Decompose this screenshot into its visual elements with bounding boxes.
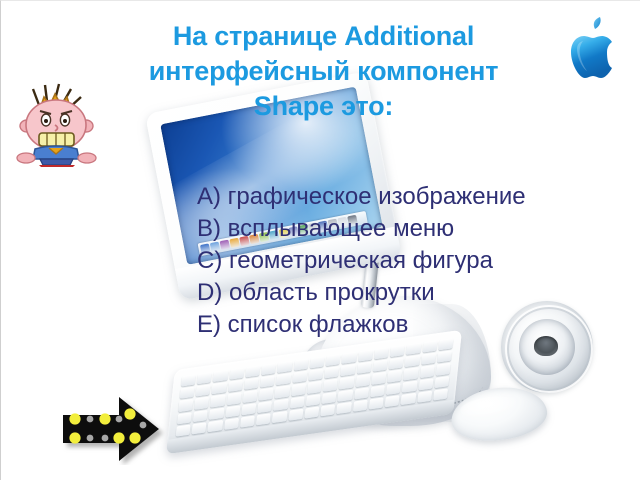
keyboard-key — [210, 395, 225, 407]
slide-canvas: На странице Additional интерфейсный комп… — [0, 0, 640, 480]
keyboard-key — [390, 345, 405, 357]
answer-option-e[interactable]: E) список флажков — [197, 309, 640, 341]
keyboard-key — [193, 409, 208, 421]
keyboard-key — [291, 383, 306, 395]
keyboard-key — [356, 362, 371, 374]
keyboard-key — [245, 365, 260, 377]
answer-option-b[interactable]: B) всплывающее меню — [197, 213, 640, 245]
keyboard-key — [387, 370, 402, 382]
keyboard-key — [369, 397, 384, 409]
keyboard-key — [243, 390, 258, 402]
keyboard-key — [406, 343, 421, 355]
keyboard-key — [323, 379, 338, 391]
keyboard-key — [244, 378, 259, 390]
title-line-3: Shape это: — [101, 89, 546, 124]
keyboard-key — [181, 374, 196, 386]
keyboard-key — [256, 413, 271, 425]
keyboard-key — [405, 355, 420, 367]
keyboard-key — [374, 347, 389, 359]
keyboard-key — [292, 371, 307, 383]
keyboard-key — [310, 356, 325, 368]
keyboard-key — [402, 380, 417, 392]
keyboard-key — [435, 363, 450, 375]
keyboard-key — [176, 424, 191, 436]
keyboard-key — [213, 370, 228, 382]
keyboard-key — [358, 349, 373, 361]
keyboard-key — [434, 376, 449, 388]
keyboard-key — [194, 397, 209, 409]
keyboard-key — [326, 354, 341, 366]
apple-logo-icon — [559, 17, 625, 85]
keyboard-key — [419, 365, 434, 377]
keyboard-key — [259, 388, 274, 400]
keyboard-key — [306, 394, 321, 406]
answer-options-list: A) графическое изображение B) всплывающе… — [197, 181, 640, 341]
title-line-1: На странице Additional — [101, 19, 546, 54]
keyboard-key — [320, 404, 335, 416]
keyboard-key — [240, 415, 255, 427]
keyboard-key — [224, 417, 239, 429]
keyboard-key — [355, 374, 370, 386]
keyboard-key — [180, 387, 195, 399]
keyboard-key — [338, 389, 353, 401]
keyboard-key — [196, 384, 211, 396]
answer-option-d[interactable]: D) область прокрутки — [197, 277, 640, 309]
marquee-arrow-right-icon[interactable] — [59, 393, 167, 465]
keyboard-key — [324, 366, 339, 378]
keyboard-key — [212, 382, 227, 394]
title-line-2: интерфейсный компонент — [101, 54, 546, 89]
keyboard-key — [342, 352, 357, 364]
keyboard-key — [386, 382, 401, 394]
keyboard-key — [373, 360, 388, 372]
keyboard-key — [228, 380, 243, 392]
keyboard-key — [177, 412, 192, 424]
keyboard-key — [178, 399, 193, 411]
keyboard-key — [308, 369, 323, 381]
keyboard-key — [339, 377, 354, 389]
keyboard-key — [389, 357, 404, 369]
keyboard-key — [208, 420, 223, 432]
keyboard-key — [385, 395, 400, 407]
keyboard-key — [307, 381, 322, 393]
answer-option-a[interactable]: A) графическое изображение — [197, 181, 640, 213]
keyboard-key — [293, 358, 308, 370]
keyboard-key — [403, 368, 418, 380]
keyboard-key — [340, 364, 355, 376]
keyboard-key — [288, 408, 303, 420]
keyboard-key — [275, 386, 290, 398]
keyboard-key — [225, 405, 240, 417]
keyboard-key — [276, 373, 291, 385]
keyboard-key — [322, 391, 337, 403]
keyboard-key — [433, 388, 448, 400]
keyboard-key — [304, 406, 319, 418]
keyboard-key — [257, 400, 272, 412]
keyboard-key — [241, 403, 256, 415]
keyboard-key — [260, 375, 275, 387]
keyboard-key — [261, 363, 276, 375]
keyboard-key — [209, 407, 224, 419]
keyboard-key — [336, 402, 351, 414]
keyboard-key — [273, 398, 288, 410]
keyboard-key — [192, 422, 207, 434]
keyboard-key — [401, 393, 416, 405]
keyboard-key — [354, 387, 369, 399]
keyboard-key — [418, 378, 433, 390]
keyboard-key — [437, 351, 452, 363]
keyboard-key — [371, 372, 386, 384]
keyboard-key — [197, 372, 212, 384]
keyboard-key — [229, 367, 244, 379]
keyboard-key — [422, 340, 437, 352]
keyboard-key — [370, 385, 385, 397]
cartoon-king-character — [9, 79, 105, 167]
page-title: На странице Additional интерфейсный комп… — [101, 19, 546, 124]
keyboard-key — [421, 353, 436, 365]
keyboard-key — [417, 390, 432, 402]
keyboard-key — [289, 396, 304, 408]
keyboard-key — [352, 399, 367, 411]
keyboard-key — [277, 361, 292, 373]
answer-option-c[interactable]: C) геометрическая фигура — [197, 245, 640, 277]
keyboard-key — [272, 411, 287, 423]
keyboard-key — [226, 392, 241, 404]
